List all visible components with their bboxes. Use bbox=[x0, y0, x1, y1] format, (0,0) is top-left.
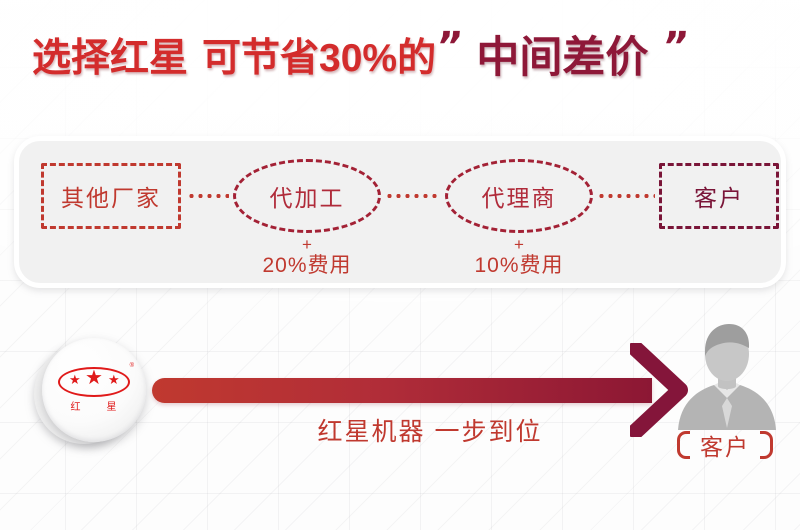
customer-caption: 客户 bbox=[650, 428, 800, 462]
fee-plus-sign-oem: + bbox=[227, 236, 387, 254]
supply-chain-card: 其他厂家 代加工 代理商 客户 + 20%费用 + 10%费用 bbox=[14, 136, 786, 288]
flow-node-other-factory-label: 其他厂家 bbox=[61, 179, 161, 213]
connector-dots-3 bbox=[597, 194, 655, 198]
bracket-left-icon bbox=[677, 431, 690, 459]
page-title: 选择红星 可节省30%的 ” 中间差价 ” bbox=[0, 27, 800, 89]
headline-emphasis: 中间差价 bbox=[476, 37, 648, 80]
quote-close-icon: ” bbox=[660, 27, 691, 67]
flow-node-oem: 代加工 bbox=[233, 159, 381, 233]
flow-node-agent: 代理商 bbox=[445, 159, 593, 233]
logo-char-xing: 星 bbox=[107, 398, 118, 413]
headline-part-2: 可节省30%的 bbox=[202, 39, 436, 78]
quote-open-icon: ” bbox=[434, 27, 465, 67]
fee-markup-agent: + 10%费用 bbox=[439, 236, 599, 278]
fee-plus-sign-agent: + bbox=[439, 236, 599, 254]
fee-markup-oem: + 20%费用 bbox=[227, 236, 387, 278]
bracket-right-icon bbox=[760, 431, 773, 459]
fee-amount-agent: 10%费用 bbox=[439, 255, 599, 278]
logo-mark: ★ ★ ★ ® 红 星 bbox=[58, 367, 130, 413]
flow-node-other-factory: 其他厂家 bbox=[41, 163, 181, 229]
customer-avatar-icon bbox=[672, 318, 782, 430]
logo-wordmark: 红 星 bbox=[58, 398, 130, 413]
registered-trademark-icon: ® bbox=[130, 363, 134, 369]
brand-logo-badge: ★ ★ ★ ® 红 星 bbox=[34, 338, 146, 450]
customer-caption-label: 客户 bbox=[700, 428, 750, 462]
fee-amount-oem: 20%费用 bbox=[227, 255, 387, 278]
connector-dots-2 bbox=[385, 194, 441, 198]
star-icon-center: ★ bbox=[85, 368, 103, 388]
headline-part-1: 选择红星 bbox=[32, 39, 188, 78]
star-icon-right: ★ bbox=[108, 373, 120, 386]
logo-disc: ★ ★ ★ ® 红 星 bbox=[42, 338, 146, 442]
connector-dots-1 bbox=[187, 194, 229, 198]
flow-node-oem-label: 代加工 bbox=[270, 179, 345, 213]
arrow-caption: 红星机器 一步到位 bbox=[230, 412, 630, 448]
poster-canvas: 选择红星 可节省30%的 ” 中间差价 ” 其他厂家 代加工 代理商 客户 + … bbox=[0, 0, 800, 530]
flow-node-client-label: 客户 bbox=[694, 179, 744, 213]
logo-char-hong: 红 bbox=[71, 398, 82, 413]
star-icon-left: ★ bbox=[69, 373, 81, 386]
flow-node-client: 客户 bbox=[659, 163, 779, 229]
flow-node-agent-label: 代理商 bbox=[482, 179, 557, 213]
process-arrow-shaft bbox=[152, 378, 652, 403]
